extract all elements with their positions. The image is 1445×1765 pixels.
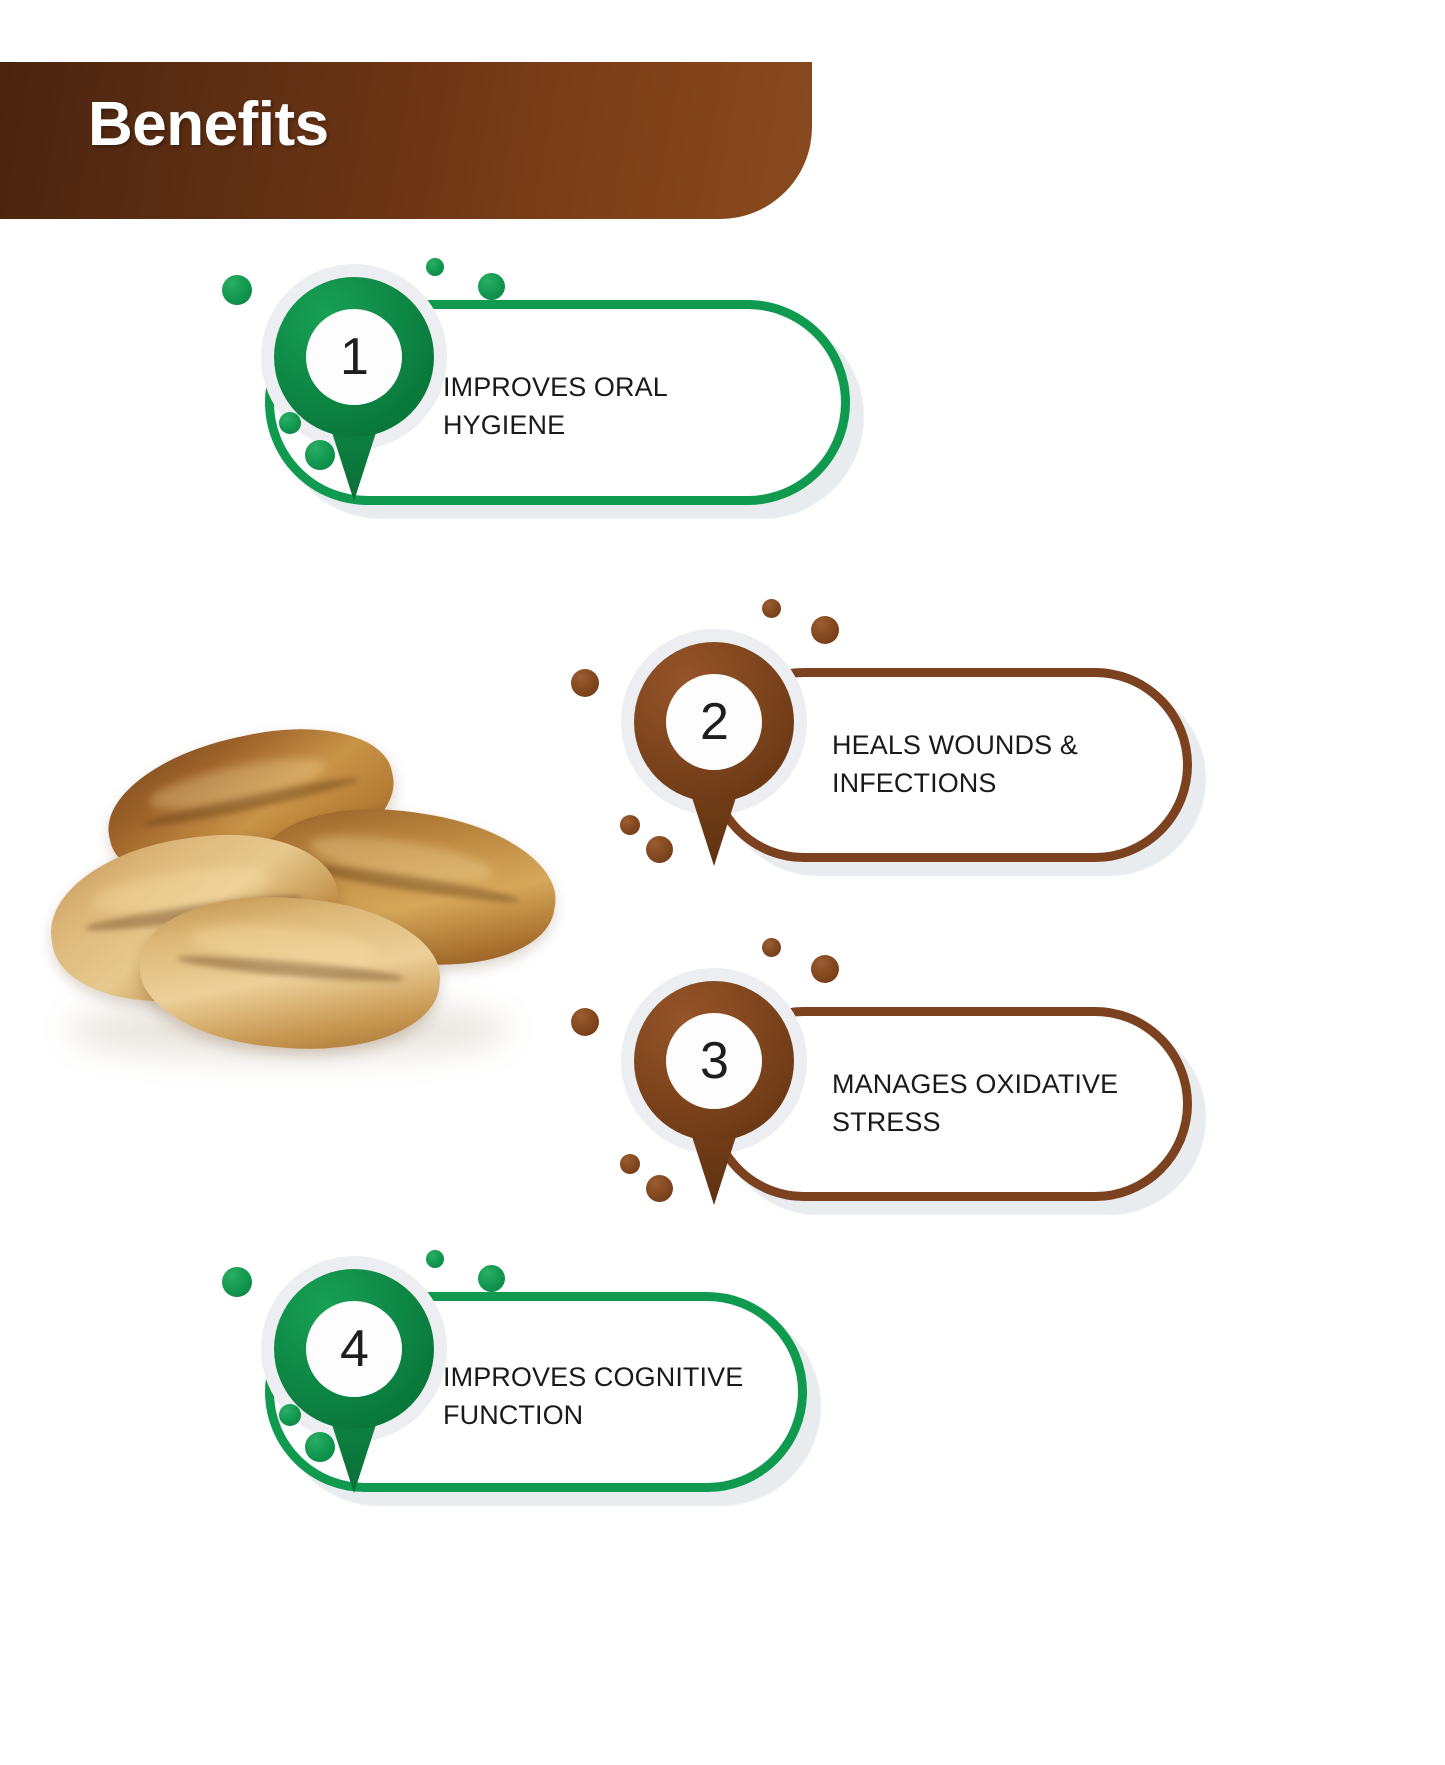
accent-dot (426, 258, 444, 276)
pin-number-disc: 3 (666, 1013, 762, 1109)
accent-dot (620, 1154, 640, 1174)
benefit-pin-1[interactable]: 1 (274, 277, 434, 507)
header-banner: Benefits (0, 62, 812, 219)
pin-number-disc: 2 (666, 674, 762, 770)
benefit-item-1[interactable]: IMPROVES ORAL HYGIENE 1 (265, 300, 850, 505)
benefit-number-4: 4 (340, 1323, 368, 1375)
accent-dot (222, 275, 252, 305)
benefit-item-3[interactable]: MANAGES OXIDATIVE STRESS 3 (707, 1007, 1192, 1201)
accent-dot (762, 938, 781, 957)
benefit-item-4[interactable]: IMPROVES COGNITIVE FUNCTION 4 (265, 1292, 807, 1492)
benefit-number-2: 2 (700, 696, 728, 748)
accent-dot (478, 273, 505, 300)
benefit-label-2: HEALS WOUNDS & INFECTIONS (832, 726, 1172, 803)
accent-dot (279, 1404, 301, 1426)
accent-dot (620, 815, 640, 835)
accent-dot (478, 1265, 505, 1292)
accent-dot (811, 955, 839, 983)
accent-dot (279, 412, 301, 434)
page-title: Benefits (88, 94, 329, 156)
accent-dot (571, 1008, 599, 1036)
accent-dot (305, 440, 335, 470)
accent-dot (426, 1250, 444, 1268)
benefit-label-3: MANAGES OXIDATIVE STRESS (832, 1065, 1172, 1142)
product-image (48, 730, 548, 1060)
accent-dot (646, 1175, 673, 1202)
accent-dot (305, 1432, 335, 1462)
benefit-item-2[interactable]: HEALS WOUNDS & INFECTIONS 2 (707, 668, 1192, 862)
accent-dot (646, 836, 673, 863)
benefit-number-1: 1 (340, 331, 368, 383)
benefit-pin-4[interactable]: 4 (274, 1269, 434, 1499)
accent-dot (762, 599, 781, 618)
accent-dot (571, 669, 599, 697)
pin-number-disc: 1 (306, 309, 402, 405)
benefit-label-4: IMPROVES COGNITIVE FUNCTION (443, 1358, 773, 1435)
accent-dot (222, 1267, 252, 1297)
benefit-label-1: IMPROVES ORAL HYGIENE (443, 368, 793, 445)
benefit-number-3: 3 (700, 1035, 728, 1087)
accent-dot (811, 616, 839, 644)
infographic-canvas: Benefits IMPROVES ORAL HYGIENE 1 HEAL (0, 0, 1445, 1765)
pin-number-disc: 4 (306, 1301, 402, 1397)
